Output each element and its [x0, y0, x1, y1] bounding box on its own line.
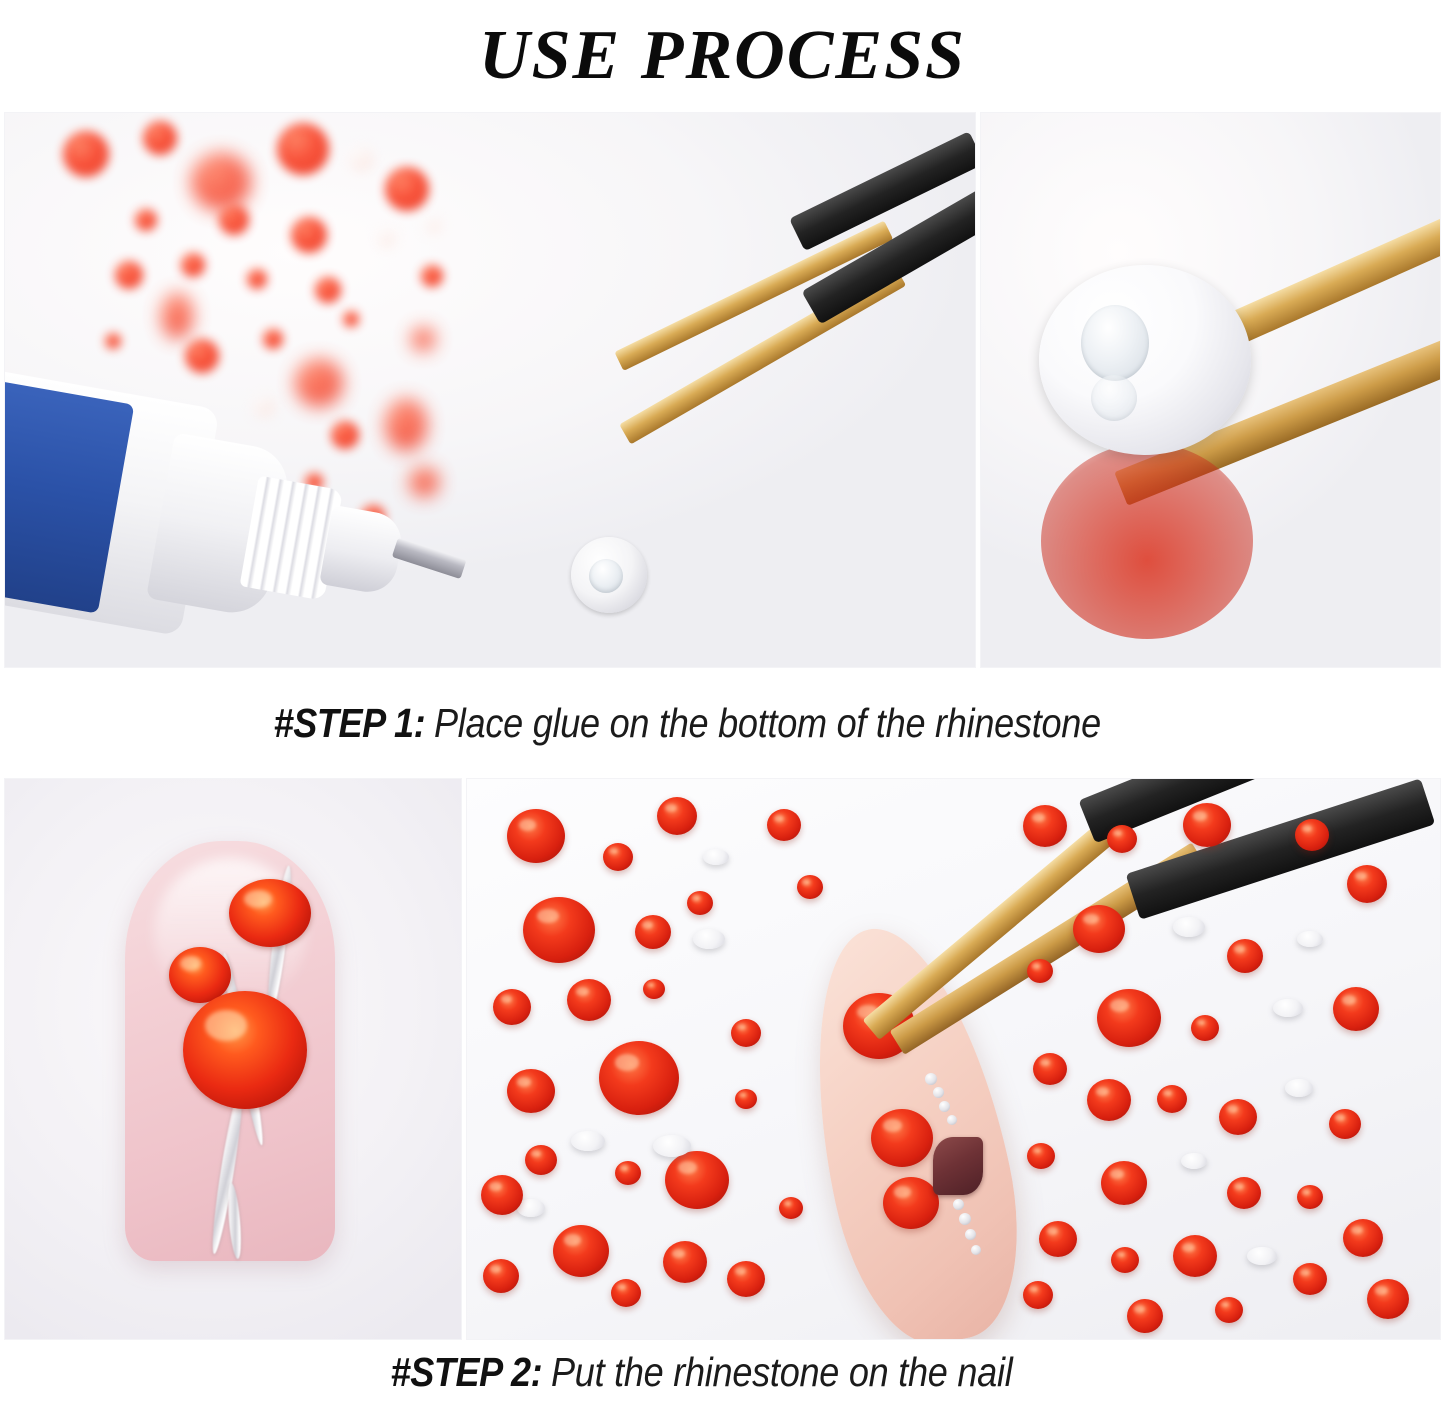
nail-gem-2 — [883, 1177, 939, 1229]
panel-finished-nail — [4, 778, 462, 1340]
step-1-image-row: RH GL — [0, 112, 1445, 668]
nail-gem-1 — [871, 1109, 933, 1167]
nail-gem-top — [229, 879, 311, 947]
step-1-caption: #STEP 1: Place glue on the bottom of the… — [0, 668, 1445, 778]
step-1-label: #STEP 1: — [274, 700, 426, 747]
step-1-text: Place glue on the bottom of the rhinesto… — [434, 700, 1101, 747]
page-title: USE PROCESS — [479, 21, 966, 91]
rhinestone-red-rim — [1041, 443, 1253, 639]
bottle-label-text: RH GL — [4, 363, 7, 552]
step-2-image-row — [0, 778, 1445, 1340]
panel-placing-rhinestone — [466, 778, 1441, 1340]
nail-dark-gem — [933, 1137, 983, 1195]
step-2-text: Put the rhinestone on the nail — [551, 1349, 1012, 1396]
glue-droplet-reflection — [1091, 375, 1137, 421]
page-header: USE PROCESS — [0, 0, 1445, 112]
glue-droplet — [589, 559, 623, 593]
panel-glued-rhinestone-closeup — [980, 112, 1441, 668]
nail-gem-large — [183, 991, 307, 1109]
glue-droplet-closeup — [1081, 305, 1149, 381]
step-2-label: #STEP 2: — [390, 1349, 542, 1396]
step-2-caption: #STEP 2: Put the rhinestone on the nail — [0, 1340, 1445, 1404]
panel-glue-application: RH GL — [4, 112, 976, 668]
